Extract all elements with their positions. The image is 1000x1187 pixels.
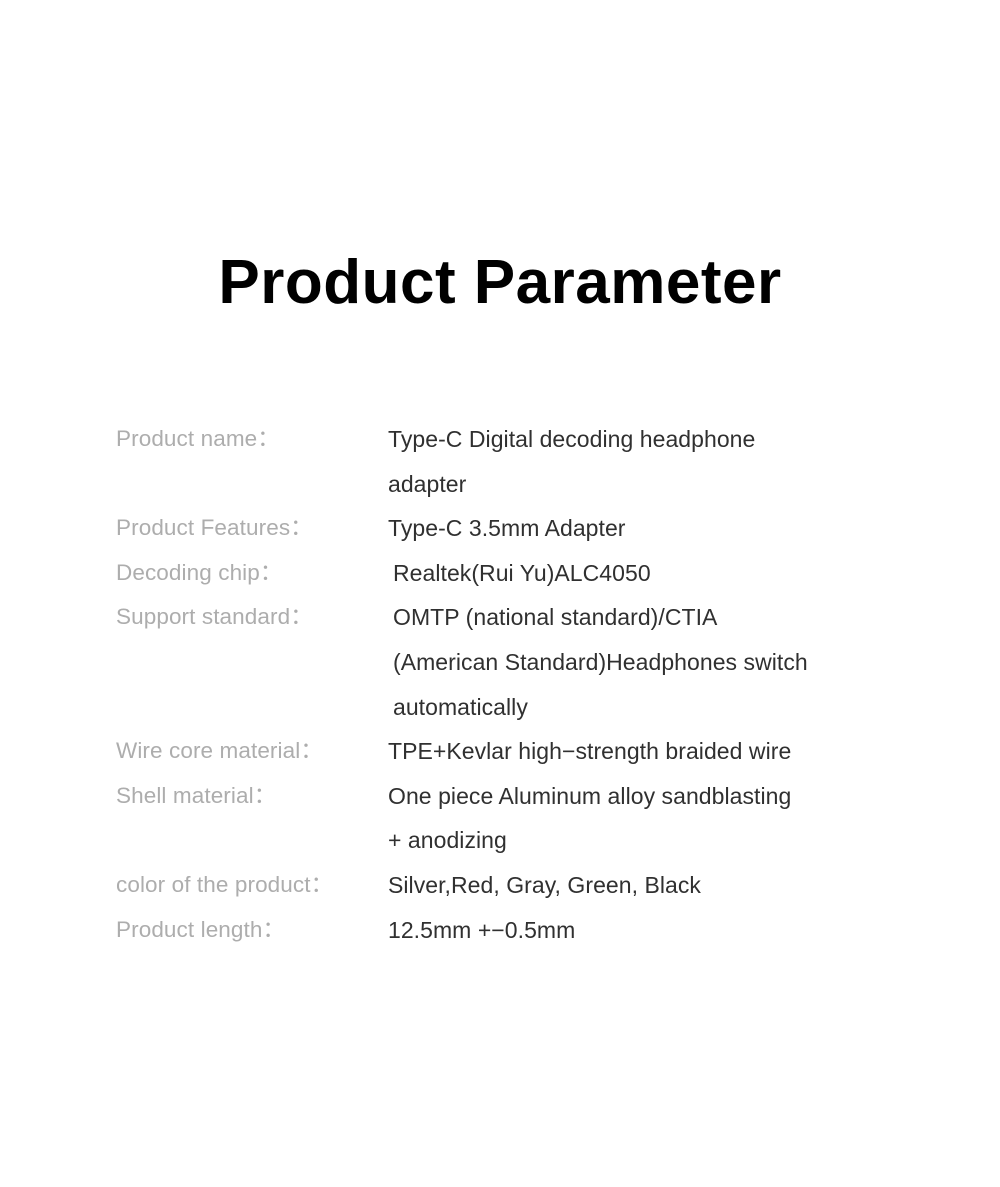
spec-label-product-features: Product Features： (116, 506, 388, 551)
spec-value-support-standard: OMTP (national standard)/CTIA (American … (388, 595, 916, 729)
page-title: Product Parameter (0, 247, 1000, 319)
spec-label-support-standard: Support standard： (116, 595, 388, 640)
spec-value-shell-material: One piece Aluminum alloy sandblasting + … (388, 774, 916, 863)
spec-value-product-length: 12.5mm +−0.5mm (388, 908, 916, 953)
product-parameter-page: Product Parameter Product name： Type-C D… (0, 0, 1000, 1187)
spec-label-product-name: Product name： (116, 417, 388, 462)
spec-value-product-features: Type-C 3.5mm Adapter (388, 506, 916, 551)
table-row: Wire core material： TPE+Kevlar high−stre… (116, 729, 916, 774)
spec-value-color-of-the-product: Silver,Red, Gray, Green, Black (388, 863, 916, 908)
spec-value-product-name: Type-C Digital decoding headphone adapte… (388, 417, 916, 506)
table-row: Product Features： Type-C 3.5mm Adapter (116, 506, 916, 551)
spec-value-decoding-chip: Realtek(Rui Yu)ALC4050 (388, 551, 916, 596)
table-row: Product name： Type-C Digital decoding he… (116, 417, 916, 506)
table-row: Decoding chip： Realtek(Rui Yu)ALC4050 (116, 551, 916, 596)
table-row: Product length： 12.5mm +−0.5mm (116, 908, 916, 953)
table-row: Shell material： One piece Aluminum alloy… (116, 774, 916, 863)
spec-label-shell-material: Shell material： (116, 774, 388, 819)
spec-label-product-length: Product length： (116, 908, 388, 953)
spec-label-decoding-chip: Decoding chip： (116, 551, 388, 596)
spec-label-color-of-the-product: color of the product： (116, 863, 388, 908)
spec-table: Product name： Type-C Digital decoding he… (116, 417, 916, 952)
table-row: color of the product： Silver,Red, Gray, … (116, 863, 916, 908)
spec-value-wire-core-material: TPE+Kevlar high−strength braided wire (388, 729, 916, 774)
spec-label-wire-core-material: Wire core material： (116, 729, 388, 774)
table-row: Support standard： OMTP (national standar… (116, 595, 916, 729)
